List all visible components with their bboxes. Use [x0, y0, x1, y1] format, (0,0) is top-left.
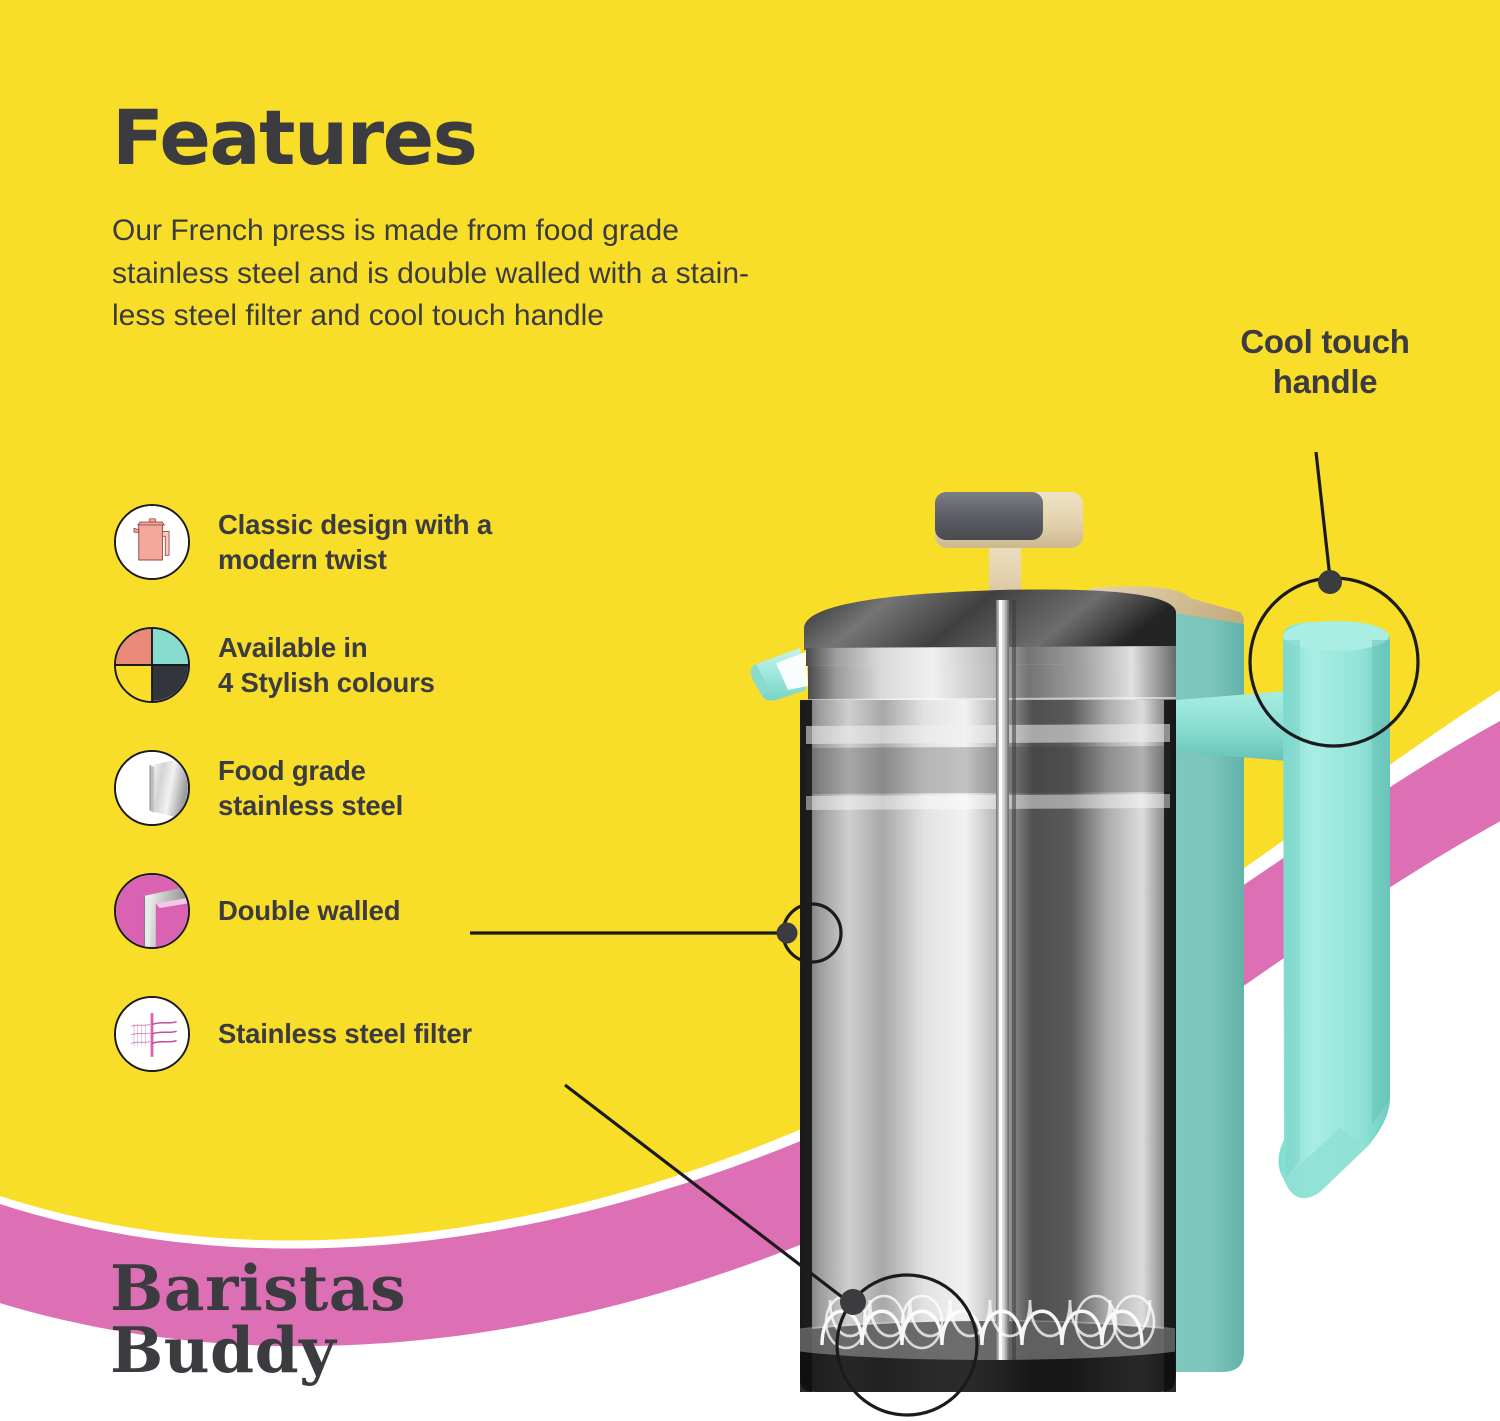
double-wall-icon — [114, 873, 190, 949]
plunger-rod — [996, 600, 1016, 1360]
feature-line: Stainless steel filter — [218, 1016, 472, 1051]
feature-label-filter: Stainless steel filter — [218, 1016, 472, 1051]
feature-item-colours: Available in 4 Stylish colours — [114, 626, 714, 704]
callout-line: handle — [1175, 362, 1475, 402]
feature-label-food-grade: Food grade stainless steel — [218, 753, 403, 823]
feature-item-filter: Stainless steel filter — [114, 995, 714, 1073]
feature-list: Classic design with a modern twist Avail… — [114, 503, 714, 1073]
header-block: Features Our French press is made from f… — [112, 100, 1012, 338]
infographic-canvas: Features Our French press is made from f… — [0, 0, 1500, 1421]
feature-line: Available in — [218, 630, 435, 665]
feature-line: Food grade — [218, 753, 403, 788]
feature-label-classic-design: Classic design with a modern twist — [218, 507, 492, 577]
lid-rim — [806, 646, 1176, 666]
feature-line: stainless steel — [218, 788, 403, 823]
feature-label-double-walled: Double walled — [218, 893, 400, 928]
feature-line: Double walled — [218, 893, 400, 928]
logo-line-2: Buddy — [110, 1320, 406, 1382]
feature-line: Classic design with a — [218, 507, 492, 542]
feature-item-food-grade: Food grade stainless steel — [114, 749, 714, 827]
intro-line-2: stainless steel and is double walled wit… — [112, 253, 942, 296]
feature-item-double-walled: Double walled — [114, 872, 714, 950]
callout-label-cool-touch-handle: Cool touch handle — [1175, 322, 1475, 403]
filter-mesh-icon — [114, 996, 190, 1072]
logo-line-1: Baristas — [110, 1258, 406, 1320]
spout — [751, 648, 808, 701]
colour-wheel-icon — [114, 627, 190, 703]
callout-line: Cool touch — [1175, 322, 1475, 362]
steel-sheet-icon — [114, 750, 190, 826]
french-press-icon — [114, 504, 190, 580]
feature-label-colours: Available in 4 Stylish colours — [218, 630, 435, 700]
intro-line-1: Our French press is made from food grade — [112, 210, 942, 253]
plunger-cap-gray — [935, 492, 1043, 540]
brand-logo: Baristas Buddy — [110, 1258, 406, 1381]
feature-line: modern twist — [218, 542, 492, 577]
intro-line-3: less steel filter and cool touch handle — [112, 295, 942, 338]
lid-top — [804, 589, 1176, 650]
page-title: Features — [112, 100, 1012, 176]
intro-paragraph: Our French press is made from food grade… — [112, 210, 942, 338]
feature-item-classic-design: Classic design with a modern twist — [114, 503, 714, 581]
carafe-body — [758, 700, 1218, 1400]
feature-line: 4 Stylish colours — [218, 665, 435, 700]
